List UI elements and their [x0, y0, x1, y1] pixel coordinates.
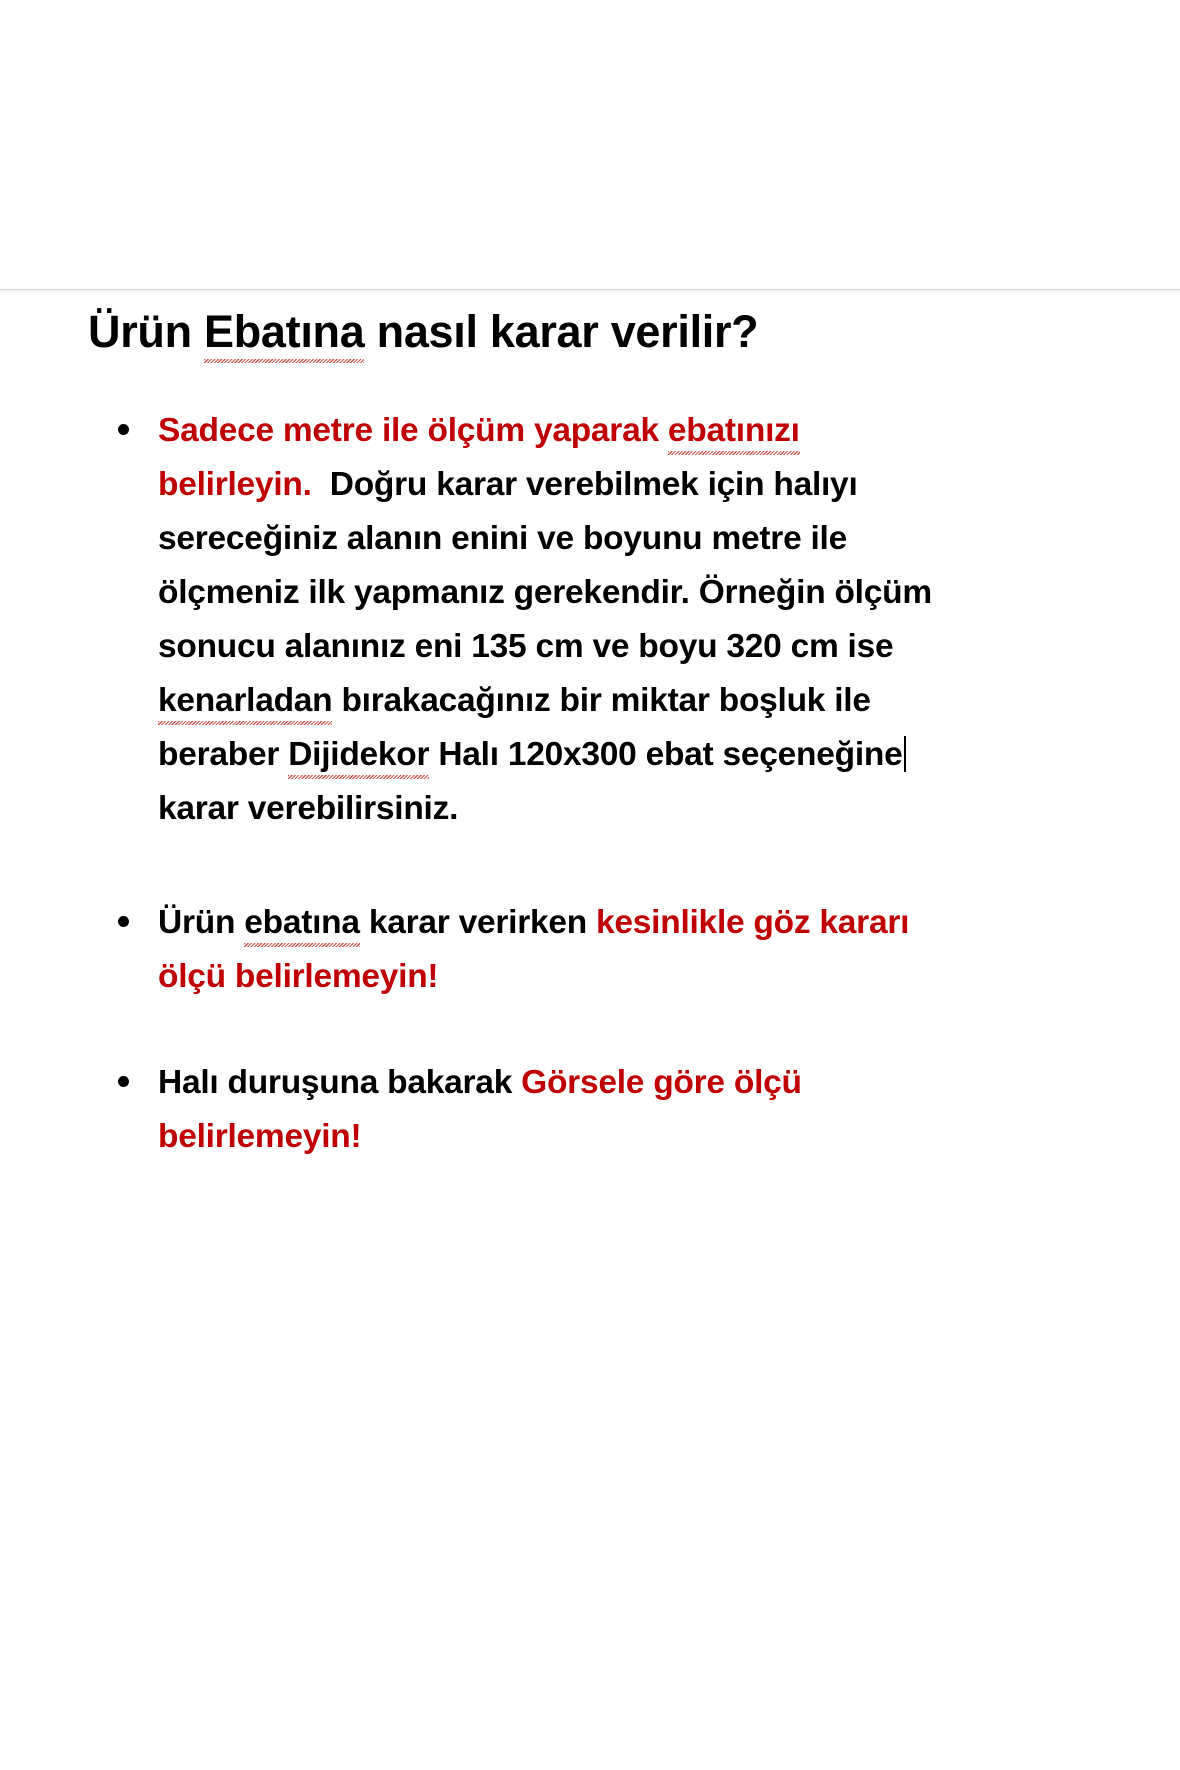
list-item[interactable]: Ürün ebatına karar verirken kesinlikle g… — [112, 896, 1112, 1004]
bullet-line: ölçü belirlemeyin! — [158, 950, 1112, 1004]
text-run: ölçmeniz ilk yapmanız gerekendir. Örneği… — [158, 574, 932, 611]
text-caret — [904, 736, 906, 772]
text-run: sereceğiniz alanın enini ve boyunu metre… — [158, 520, 847, 557]
list-item[interactable]: Halı duruşuna bakarak Görsele göre ölçüb… — [112, 1056, 1112, 1164]
list-item[interactable]: Sadece metre ile ölçüm yaparak ebatınızı… — [112, 404, 1112, 836]
bullet-line: beraber Dijidekor Halı 120x300 ebat seçe… — [158, 728, 1112, 782]
text-run: bırakacağınız bir miktar boşluk ile — [332, 682, 870, 719]
text-run: belirleyin. — [158, 466, 312, 503]
text-run: belirlemeyin! — [158, 1118, 361, 1155]
title-text-before: Ürün — [88, 306, 204, 357]
misspelled-word: kenarladan — [158, 682, 332, 719]
bullet-line: kenarladan bırakacağınız bir miktar boşl… — [158, 674, 1112, 728]
bullet-line: Halı duruşuna bakarak Görsele göre ölçü — [158, 1056, 1112, 1110]
page-header-area — [0, 0, 1180, 290]
text-run: Sadece metre ile ölçüm yaparak — [158, 412, 668, 449]
bullet-line: sereceğiniz alanın enini ve boyunu metre… — [158, 512, 1112, 566]
text-run: Halı 120x300 ebat seçeneğine — [429, 736, 902, 773]
text-run: ölçü belirlemeyin! — [158, 958, 438, 995]
bullet-spacer — [112, 836, 1112, 896]
bullet-line: Ürün ebatına karar verirken kesinlikle g… — [158, 896, 1112, 950]
bullet-line: sonucu alanınız eni 135 cm ve boyu 320 c… — [158, 620, 1112, 674]
bullet-dot-icon — [118, 424, 129, 435]
text-run: Halı duruşuna bakarak — [158, 1064, 521, 1101]
bullet-line: belirleyin. Doğru karar verebilmek için … — [158, 458, 1112, 512]
bullet-line: Sadece metre ile ölçüm yaparak ebatınızı — [158, 404, 1112, 458]
bullet-dot-icon — [118, 1076, 129, 1087]
bullet-dot-icon — [118, 916, 129, 927]
text-run: kesinlikle göz kararı — [596, 904, 909, 941]
page-title: Ürün Ebatına nasıl karar verilir? — [88, 307, 1088, 357]
text-run: Görsele göre ölçü — [521, 1064, 802, 1101]
text-run: karar verirken — [360, 904, 596, 941]
title-text-after: nasıl karar verilir? — [364, 306, 758, 357]
misspelled-word: ebatınızı — [668, 412, 800, 449]
text-run: Ürün — [158, 904, 244, 941]
bullet-line: belirlemeyin! — [158, 1110, 1112, 1164]
bullet-line: ölçmeniz ilk yapmanız gerekendir. Örneği… — [158, 566, 1112, 620]
bullet-list: Sadece metre ile ölçüm yaparak ebatınızı… — [112, 404, 1112, 1164]
text-run: karar verebilirsiniz. — [158, 790, 458, 827]
misspelled-word: Dijidekor — [288, 736, 429, 773]
bullet-line: karar verebilirsiniz. — [158, 782, 1112, 836]
text-run: beraber — [158, 736, 288, 773]
misspelled-word: ebatına — [244, 904, 360, 941]
text-run: Doğru karar verebilmek için halıyı — [312, 466, 858, 503]
text-run: sonucu alanınız eni 135 cm ve boyu 320 c… — [158, 628, 893, 665]
bullet-spacer — [112, 1004, 1112, 1056]
slide-content: Ürün Ebatına nasıl karar verilir? Sadece… — [0, 292, 1180, 1770]
title-misspelled-word: Ebatına — [204, 306, 364, 357]
